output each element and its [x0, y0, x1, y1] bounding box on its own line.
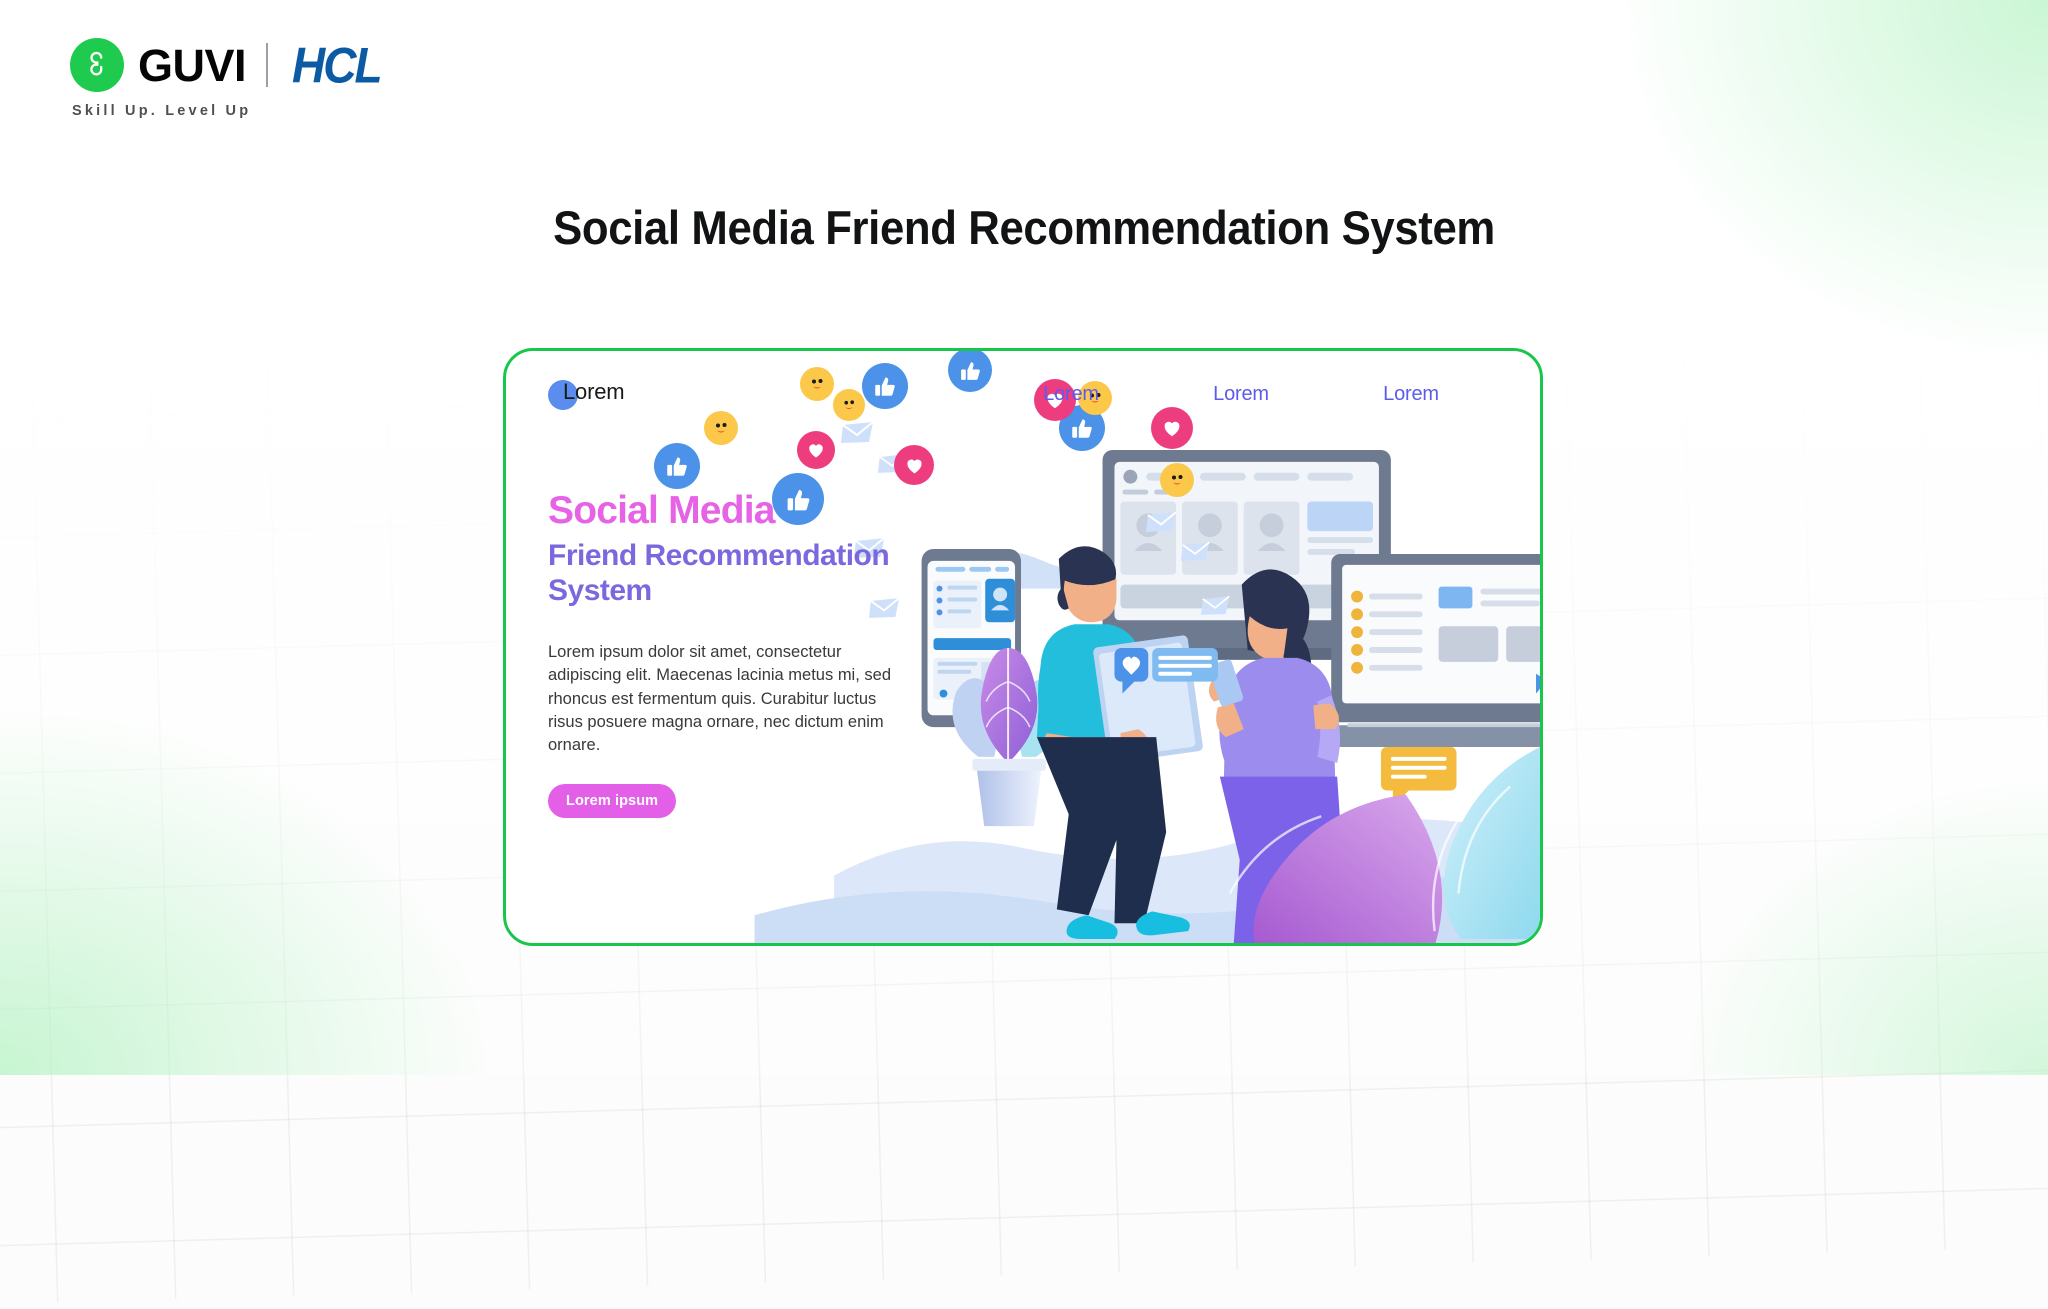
brand-tagline: Skill Up. Level Up — [72, 103, 381, 119]
envelope-icon — [1201, 595, 1231, 622]
hcl-wordmark: HCL — [292, 40, 381, 90]
hero-cta-button[interactable]: Lorem ipsum — [548, 784, 676, 818]
brand-divider — [266, 43, 268, 87]
nav-links: Lorem Lorem Lorem — [986, 383, 1496, 406]
smiley-emoji-icon — [1160, 463, 1194, 497]
nav-link-3[interactable]: Lorem — [1326, 383, 1496, 406]
page-title: Social Media Friend Recommendation Syste… — [72, 200, 1977, 255]
nav-link-2[interactable]: Lorem — [1156, 383, 1326, 406]
guvi-g-icon — [70, 38, 124, 92]
heart-icon — [894, 445, 934, 485]
hero-copy: Social Media Friend Recommendation Syste… — [548, 491, 978, 818]
website-preview-card: Lorem Lorem Lorem Lorem Social Media Fri… — [503, 348, 1543, 946]
envelope-icon — [1181, 541, 1211, 568]
envelope-icon — [1146, 511, 1178, 539]
brand-bar: GUVI HCL Skill Up. Level Up — [70, 38, 381, 119]
nav-brand[interactable]: Lorem — [548, 379, 624, 405]
hero-heading-line2: Friend Recommendation System — [548, 538, 998, 609]
thumbs-up-icon — [654, 443, 700, 489]
brand-logos-row: GUVI HCL — [70, 38, 381, 92]
nav-brand-label: Lorem — [563, 379, 624, 405]
nav-link-1[interactable]: Lorem — [986, 383, 1156, 406]
guvi-wordmark: GUVI — [138, 43, 246, 88]
card-navbar: Lorem Lorem Lorem Lorem — [506, 351, 1540, 437]
hero-heading-line1: Social Media — [548, 491, 978, 530]
hero-body-text: Lorem ipsum dolor sit amet, consectetur … — [548, 641, 893, 758]
